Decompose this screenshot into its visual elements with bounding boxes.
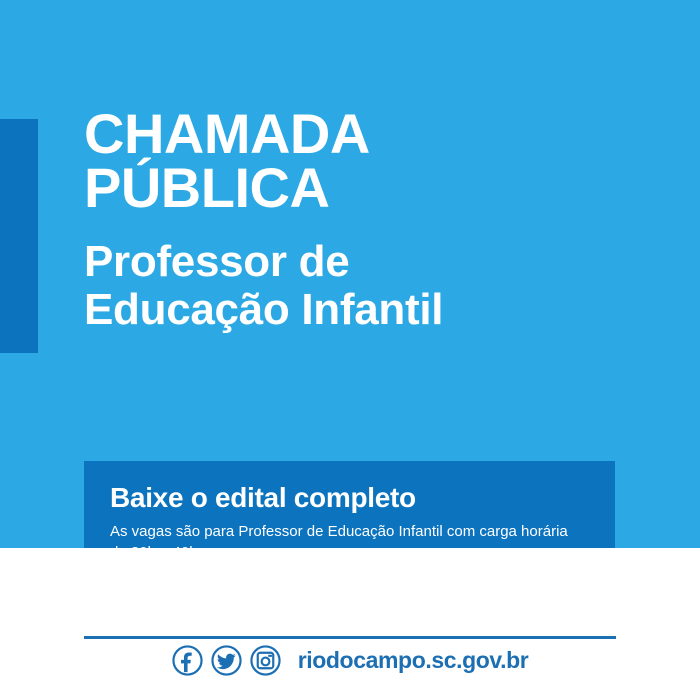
facebook-icon[interactable] [172, 645, 203, 676]
page-subtitle: Professor de Educação Infantil [84, 240, 684, 333]
left-accent-bar [0, 119, 38, 353]
poster-canvas: CHAMADA PÚBLICA Professor de Educação In… [0, 0, 700, 688]
instagram-icon[interactable] [250, 645, 281, 676]
subheadline-line-2: Educação Infantil [84, 288, 684, 333]
page-title: CHAMADA PÚBLICA [84, 108, 684, 214]
headline-line-2: PÚBLICA [84, 162, 684, 214]
twitter-icon[interactable] [211, 645, 242, 676]
footer-divider [84, 636, 616, 639]
headline-line-1: CHAMADA [84, 108, 684, 160]
cta-title: Baixe o edital completo [110, 483, 615, 512]
website-url[interactable]: riodocampo.sc.gov.br [298, 647, 529, 674]
subheadline-line-1: Professor de [84, 240, 684, 285]
footer: riodocampo.sc.gov.br [0, 548, 700, 688]
footer-contact-row: riodocampo.sc.gov.br [0, 645, 700, 676]
